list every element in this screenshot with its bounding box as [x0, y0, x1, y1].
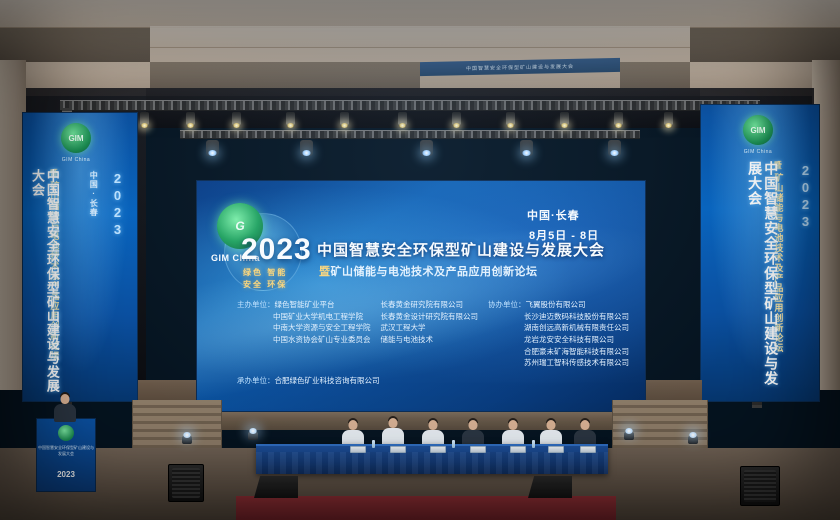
stage-steps-left	[132, 400, 222, 452]
screen-location: 中国·长春	[527, 207, 580, 223]
side-banner-left-year: 2023	[109, 171, 124, 237]
panelist-head	[509, 420, 518, 430]
stage-lamp-icon	[664, 112, 673, 125]
host-right-1: 长春黄金研究院有限公司	[381, 299, 479, 311]
floor-light-icon	[688, 436, 698, 444]
co-organizer-label: 协办单位：	[488, 300, 526, 309]
av-operator-head	[61, 394, 70, 404]
nameplate	[350, 446, 366, 453]
side-banner-left: GIM GIM China 2023 中国·长春 暨 矿山储能与电池技术及产品应…	[22, 112, 138, 402]
stage-lamp-icon	[286, 112, 295, 125]
nameplate	[390, 446, 406, 453]
water-bottle	[372, 440, 375, 448]
screen-slogan-line1: 绿色 智能	[243, 267, 287, 278]
nameplate	[470, 446, 486, 453]
moving-head-light-icon	[206, 140, 219, 156]
panelist-head	[429, 420, 438, 430]
co-organizer-5: 合肥豪未矿海智能科技有限公司	[488, 346, 629, 358]
undertaker-row: 承办单位：合肥绿色矿业科技咨询有限公司	[237, 375, 629, 387]
moving-head-light-icon	[420, 140, 433, 156]
organizer-columns: 主办单位：绿色智能矿业平台 中国矿业大学机电工程学院 中南大学资源与安全工程学院…	[237, 299, 629, 369]
floor-light-icon	[624, 432, 634, 440]
standee-logo-icon	[58, 425, 74, 441]
ceiling-shadow-right	[620, 62, 690, 88]
host-left-4: 中国水资协会矿山专业委员会	[237, 334, 371, 346]
lighting-truss-top	[60, 100, 760, 111]
co-organizer-column: 协办单位：飞翼股份有限公司 长沙迪迈数码科技股份有限公司 湖南创远高新机械有限责…	[488, 299, 629, 369]
screen-title-sub-text: 矿山储能与电池技术及产品应用创新论坛	[331, 266, 538, 278]
panelist-head	[389, 418, 398, 428]
co-organizer-3: 湖南创远高新机械有限责任公司	[488, 322, 629, 334]
co-organizer-2: 长沙迪迈数码科技股份有限公司	[488, 311, 629, 323]
pa-speaker-right	[740, 466, 780, 506]
host-right-2: 长春黄金设计研究院有限公司	[381, 311, 479, 323]
water-bottle	[532, 440, 535, 448]
stage-lamp-icon	[398, 112, 407, 125]
ceiling-shadow-left	[150, 62, 420, 88]
stage-lamp-icon	[186, 112, 195, 125]
av-operator	[52, 392, 78, 426]
gim-logo-icon-right: GIM	[743, 115, 773, 145]
pa-speaker-left	[168, 464, 204, 502]
floor-light-icon	[248, 432, 258, 440]
stage-lamp-icon	[140, 112, 149, 125]
host-left-3: 中南大学资源与安全工程学院	[237, 322, 371, 334]
moving-head-light-icon	[608, 140, 621, 156]
stage-steps-right	[612, 400, 708, 452]
nameplate	[580, 446, 596, 453]
stage-lamp-icon	[452, 112, 461, 125]
side-banner-left-location: 中国·长春	[89, 171, 98, 241]
side-banner-right-year: 2023	[797, 163, 812, 229]
conference-stage-photo: 中国智慧安全环保型矿山建设与发展大会 GIM GIM China 2023 中国…	[0, 0, 840, 520]
host-right-3: 武汉工程大学	[381, 322, 479, 334]
ceiling-panel-upper	[0, 0, 840, 28]
ceiling-recess-left	[0, 28, 150, 62]
gim-logo-icon-left: GIM	[61, 123, 91, 153]
host-column-left: 主办单位：绿色智能矿业平台 中国矿业大学机电工程学院 中南大学资源与安全工程学院…	[237, 299, 371, 369]
panelist-head	[469, 420, 478, 430]
gim-logo-label-left: GIM China	[56, 157, 96, 163]
moving-head-light-icon	[520, 140, 533, 156]
gim-logo-label-right: GIM China	[738, 149, 778, 155]
screen-title-sub-mark: 暨	[319, 266, 331, 278]
ceiling-recess-right	[690, 28, 840, 62]
stage-lamp-icon	[340, 112, 349, 125]
nameplate	[548, 446, 564, 453]
screen-slogan-line2: 安全 环保	[243, 279, 287, 290]
water-bottle	[452, 440, 455, 448]
main-led-screen: G GIM China 2023 绿色 智能 安全 环保 中国智慧安全环保型矿山…	[196, 180, 646, 412]
standee-year: 2023	[37, 469, 95, 480]
event-standee: 中国智慧安全环保型矿山建设与发展大会 2023	[36, 418, 96, 492]
host-right-4: 储能与电池技术	[381, 334, 479, 346]
stage-monitor-right	[528, 476, 572, 498]
host-label: 主办单位：	[237, 300, 275, 309]
screen-organizers: 主办单位：绿色智能矿业平台 中国矿业大学机电工程学院 中南大学资源与安全工程学院…	[237, 299, 629, 386]
screen-year: 2023	[241, 233, 312, 267]
stage-lamp-icon	[232, 112, 241, 125]
stage-lamp-icon	[506, 112, 515, 125]
co-organizer-6: 苏州瑞工智科传感技术有限公司	[488, 357, 629, 369]
screen-dates: 8月5日 - 8日	[529, 227, 599, 243]
nameplate	[430, 446, 446, 453]
nameplate	[510, 446, 526, 453]
panelist-head	[547, 420, 556, 430]
side-banner-right-main-title: 中国智慧安全环保型矿山建设与发展大会	[747, 161, 779, 397]
panelist-head	[349, 420, 358, 430]
side-banner-right: GIM GIM China 2023 暨 矿山储能与电池技术及产品应用创新论坛 …	[700, 104, 820, 402]
screen-title-sub: 暨矿山储能与电池技术及产品应用创新论坛	[319, 263, 538, 279]
panel-table-skirt	[256, 452, 608, 474]
red-carpet	[236, 496, 616, 520]
co-organizer-4: 龙岩龙安安全科技有限公司	[488, 334, 629, 346]
stage-lamp-icon	[560, 112, 569, 125]
stage-monitor-left	[254, 476, 298, 498]
moving-head-light-icon	[300, 140, 313, 156]
undertaker-name: 合肥绿色矿业科技咨询有限公司	[275, 376, 380, 385]
lighting-truss-inner	[180, 130, 640, 139]
host-left-1: 绿色智能矿业平台	[275, 300, 335, 309]
ceiling-panel-center	[150, 26, 690, 48]
host-column-right: 长春黄金研究院有限公司 长春黄金设计研究院有限公司 武汉工程大学 储能与电池技术	[381, 299, 479, 369]
av-operator-body	[54, 404, 76, 422]
co-organizer-1: 飞翼股份有限公司	[526, 300, 586, 309]
undertaker-label: 承办单位：	[237, 376, 275, 385]
side-banner-left-main-title: 中国智慧安全环保型矿山建设与发展大会	[29, 169, 59, 401]
panelist-head	[581, 420, 590, 430]
floor-light-icon	[182, 436, 192, 444]
host-left-2: 中国矿业大学机电工程学院	[237, 311, 371, 323]
standee-title: 中国智慧安全环保型矿山建设与发展大会	[37, 445, 95, 456]
stage-lamp-icon	[614, 112, 623, 125]
